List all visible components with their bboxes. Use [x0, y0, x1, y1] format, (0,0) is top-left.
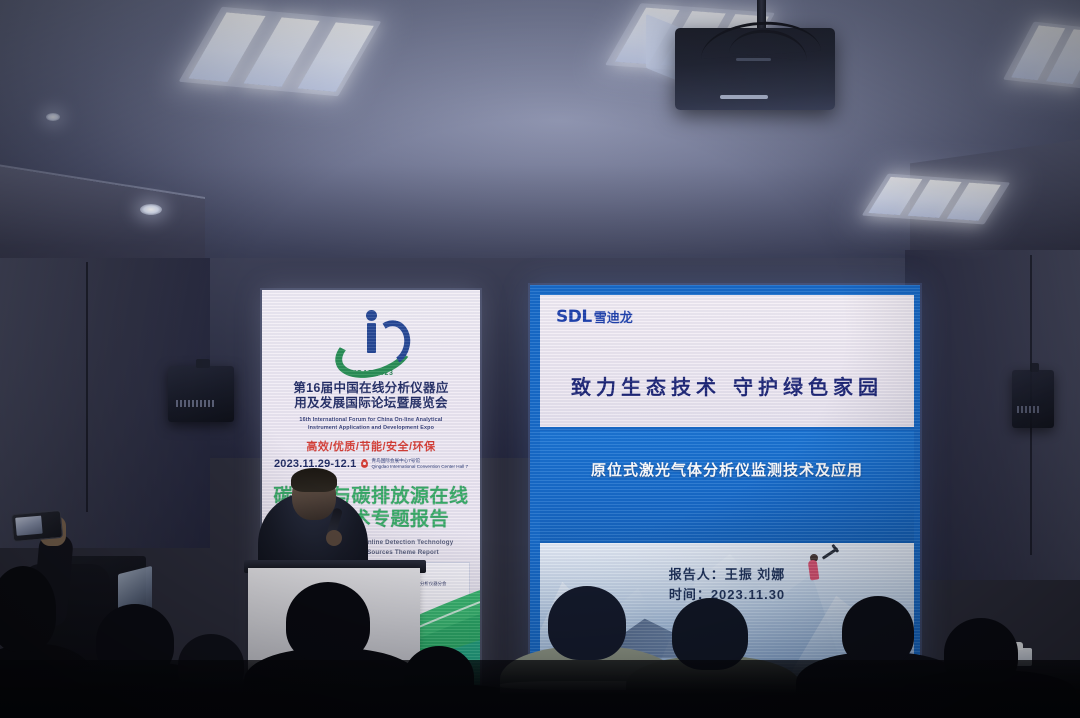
sdl-logo: SDL 雪迪龙 — [556, 307, 633, 327]
logo-stem-icon — [367, 323, 376, 353]
presenter-hand — [326, 530, 342, 546]
presenter-hair — [291, 468, 337, 492]
event-title-line1: 第16届中国在线分析仪器应 — [274, 381, 468, 396]
logo-dot-icon — [366, 310, 377, 321]
wall-speaker-left — [168, 366, 234, 422]
event-subtitle-en-line1: 16th International Forum for China On-li… — [276, 416, 466, 424]
slide-slogan: 致力生态技术 守护绿色家园 — [540, 371, 914, 400]
sdl-logo-en: SDL — [556, 307, 592, 327]
event-title: 第16届中国在线分析仪器应 用及发展国际论坛暨展览会 — [274, 381, 468, 412]
slide-presenter: 报告人：王振 刘娜 — [540, 565, 914, 585]
event-venue-line1: 青岛国际会展中心7号馆 — [372, 458, 421, 463]
phone-screen — [15, 516, 42, 536]
speaker-grille — [1017, 406, 1041, 413]
cioae-logo-icon — [332, 306, 410, 368]
audience-head — [286, 582, 370, 662]
audience-head — [548, 586, 626, 660]
conference-hall-photo: CIOAE 2023 第16届中国在线分析仪器应 用及发展国际论坛暨展览会 16… — [0, 0, 1080, 718]
recessed-downlight — [140, 204, 162, 215]
smartphone-recording — [11, 510, 63, 542]
sdl-logo-cn: 雪迪龙 — [594, 307, 633, 326]
location-pin-icon — [361, 459, 368, 468]
speaker-bracket — [196, 359, 211, 368]
wall-seam-left — [86, 262, 88, 512]
foreground-shadow-band — [0, 660, 1080, 718]
event-keyword-tags: 高效/优质/节能/安全/环保 — [270, 438, 472, 454]
event-date-venue-row: 2023.11.29-12.1 青岛国际会展中心7号馆 Qingdao Inte… — [270, 458, 472, 470]
event-venue-line2: Qingdao International Convention Center … — [372, 464, 469, 469]
wall-speaker-right — [1012, 370, 1054, 428]
speaker-grille — [176, 400, 214, 407]
event-subtitle-english: 16th International Forum for China On-li… — [276, 416, 466, 432]
slide-main-title: 原位式激光气体分析仪监测技术及应用 — [540, 459, 914, 480]
event-title-line2: 用及发展国际论坛暨展览会 — [274, 396, 468, 411]
speaker-bracket — [1030, 363, 1039, 372]
audience-head — [842, 596, 914, 666]
recessed-downlight — [46, 113, 60, 121]
slide-title-band: 原位式激光气体分析仪监测技术及应用 — [540, 431, 914, 543]
event-venue: 青岛国际会展中心7号馆 Qingdao International Conven… — [372, 458, 469, 470]
event-subtitle-en-line2: Instrument Application and Development E… — [276, 424, 466, 432]
ceiling-light-panel-4 — [862, 174, 1011, 225]
slide-header-panel: SDL 雪迪龙 致力生态技术 守护绿色家园 — [540, 295, 914, 427]
